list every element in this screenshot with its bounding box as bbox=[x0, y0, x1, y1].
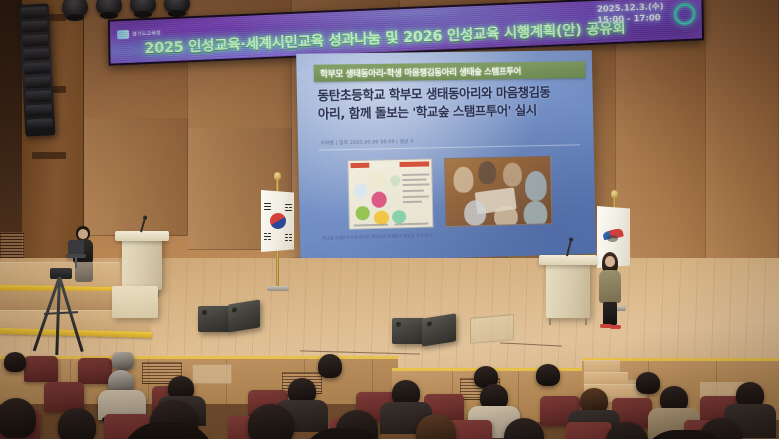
audience-head bbox=[318, 354, 342, 378]
audience-head bbox=[636, 372, 660, 394]
auditorium-seat bbox=[566, 422, 612, 439]
seated-audience bbox=[0, 352, 779, 439]
stage-side-table bbox=[112, 286, 158, 318]
audience-head bbox=[536, 364, 560, 386]
wall-panel bbox=[706, 0, 779, 276]
slide-headline: 동탄초등학교 학부모 생태동아리와 마음챙김동 아리, 함께 돌보는 '학교숲 … bbox=[317, 83, 581, 123]
organization-logo-mark bbox=[117, 30, 129, 40]
acrylic-stage-panel bbox=[470, 314, 514, 344]
stage-monitor-3 bbox=[392, 318, 424, 344]
institution-emblem-icon bbox=[603, 228, 625, 244]
auditorium-seat bbox=[78, 358, 112, 384]
stage-monitor-1 bbox=[198, 306, 230, 332]
lectern-left bbox=[122, 238, 162, 290]
stage-monitor-2 bbox=[228, 299, 260, 332]
audience-head bbox=[0, 398, 36, 438]
audience-head bbox=[4, 352, 26, 372]
ecology-infographic-poster bbox=[347, 158, 433, 229]
korean-national-flag bbox=[261, 190, 294, 252]
students-activity-photo bbox=[444, 156, 552, 227]
lectern-right bbox=[546, 262, 590, 318]
auditorium-photo: 경기도교육청 2025 인성교육·세계시민교육 성과나눔 및 2026 인성교육… bbox=[0, 0, 779, 439]
stage-chair bbox=[66, 240, 86, 268]
slide-green-bar-text: 학부모 생태동아리-학생 마음챙김동아리 생태숲 스탬프투어 bbox=[320, 65, 521, 80]
camera-tripod[interactable] bbox=[34, 268, 88, 354]
flag-base-left bbox=[267, 286, 289, 291]
audience-head bbox=[58, 408, 96, 439]
audience-head bbox=[248, 404, 294, 439]
wall-panel bbox=[84, 118, 188, 236]
projection-screen: 학부모 생태동아리-학생 마음챙김동아리 생태숲 스탬프투어 동탄초등학교 학부… bbox=[296, 50, 596, 262]
stage-monitor-4 bbox=[422, 313, 456, 346]
auditorium-seat bbox=[24, 356, 58, 382]
banner-date-time: 2025.12.3.(수) 15:00 - 17:00 bbox=[597, 2, 664, 26]
taeguk-symbol bbox=[267, 210, 289, 232]
audience-head bbox=[112, 352, 134, 370]
presenter-standing bbox=[596, 252, 624, 328]
